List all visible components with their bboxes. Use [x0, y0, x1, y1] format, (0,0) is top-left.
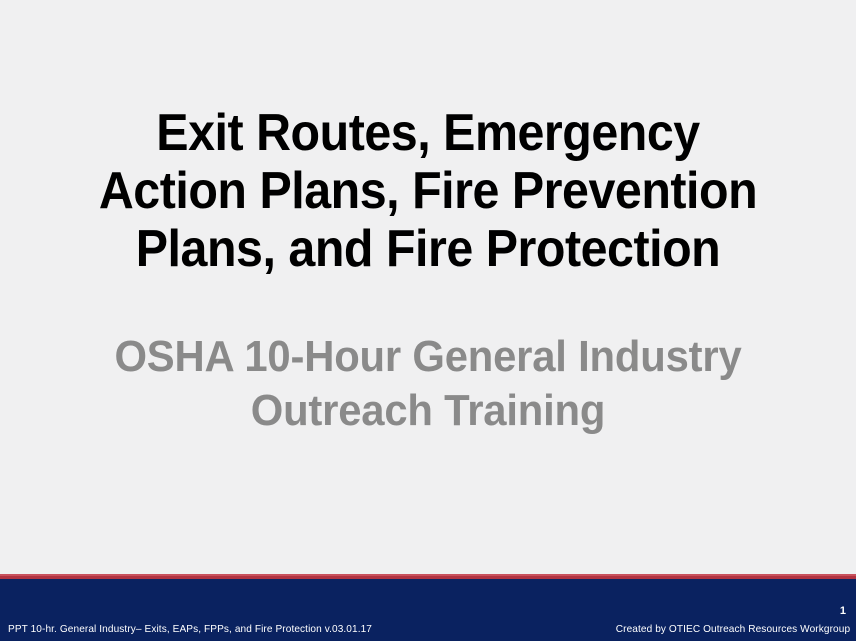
subtitle-line-1: OSHA 10-Hour General Industry: [21, 330, 834, 384]
title-line-3: Plans, and Fire Protection: [30, 220, 826, 278]
slide-subtitle: OSHA 10-Hour General Industry Outreach T…: [0, 330, 856, 438]
footer-course-label: PPT 10-hr. General Industry– Exits, EAPs…: [8, 623, 372, 635]
slide-number: 1: [840, 605, 846, 617]
presentation-slide: Exit Routes, Emergency Action Plans, Fir…: [0, 0, 856, 641]
footer-credit-label: Created by OTIEC Outreach Resources Work…: [616, 623, 850, 635]
title-line-2: Action Plans, Fire Prevention: [30, 162, 826, 220]
slide-title: Exit Routes, Emergency Action Plans, Fir…: [0, 104, 856, 278]
title-line-1: Exit Routes, Emergency: [30, 104, 826, 162]
subtitle-line-2: Outreach Training: [21, 384, 834, 438]
slide-footer: 1 PPT 10-hr. General Industry– Exits, EA…: [0, 579, 856, 641]
accent-rule-highlight: [0, 574, 856, 576]
